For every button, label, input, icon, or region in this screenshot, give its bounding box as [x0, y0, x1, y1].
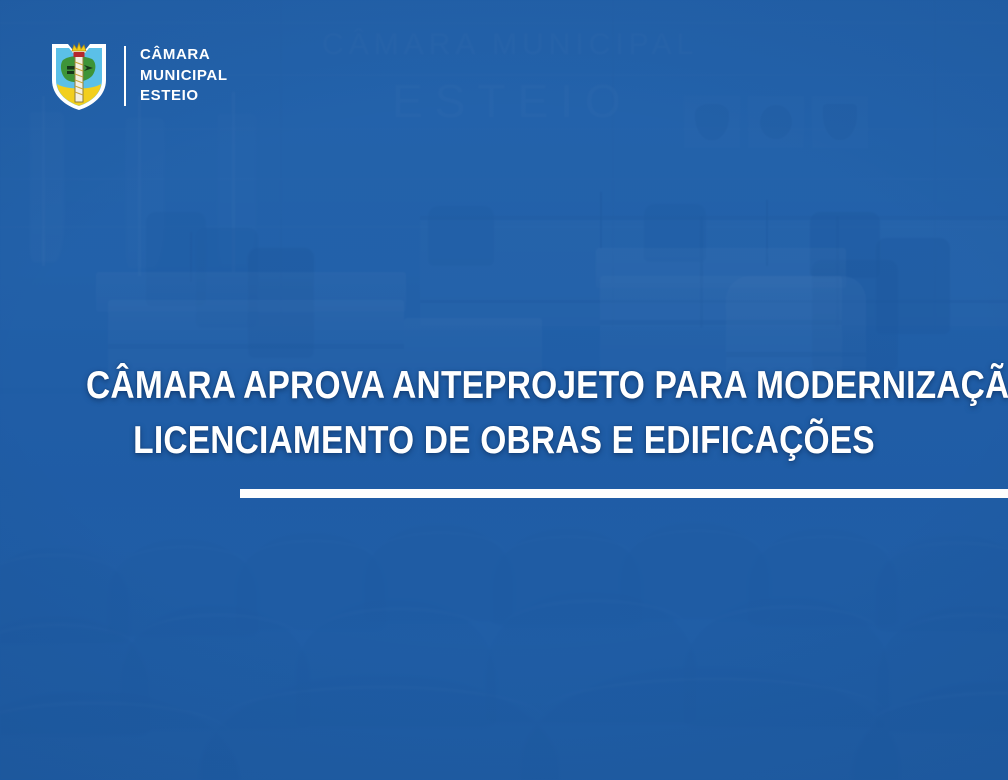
headline-line-1: CÂMARA APROVA ANTEPROJETO PARA MODERNIZA…	[86, 358, 922, 413]
logo-lockup[interactable]: CÂMARA MUNICIPAL ESTEIO	[48, 40, 228, 112]
shield-icon	[48, 40, 110, 112]
logo-line-municipal: MUNICIPAL	[140, 66, 228, 87]
banner-content: CÂMARA MUNICIPAL ESTEIO CÂMARA APROVA AN…	[0, 0, 1008, 780]
logo-line-camara: CÂMARA	[140, 45, 228, 66]
headline-line-2: LICENCIAMENTO DE OBRAS E EDIFICAÇÕES	[86, 413, 922, 468]
logo-wordmark: CÂMARA MUNICIPAL ESTEIO	[140, 45, 228, 107]
news-banner: CÂMARA MUNICIPAL ESTEIO	[0, 0, 1008, 780]
headline-underline	[240, 489, 1008, 498]
logo-divider	[124, 46, 126, 106]
logo-line-esteio: ESTEIO	[140, 86, 228, 107]
page-title: CÂMARA APROVA ANTEPROJETO PARA MODERNIZA…	[71, 358, 938, 469]
